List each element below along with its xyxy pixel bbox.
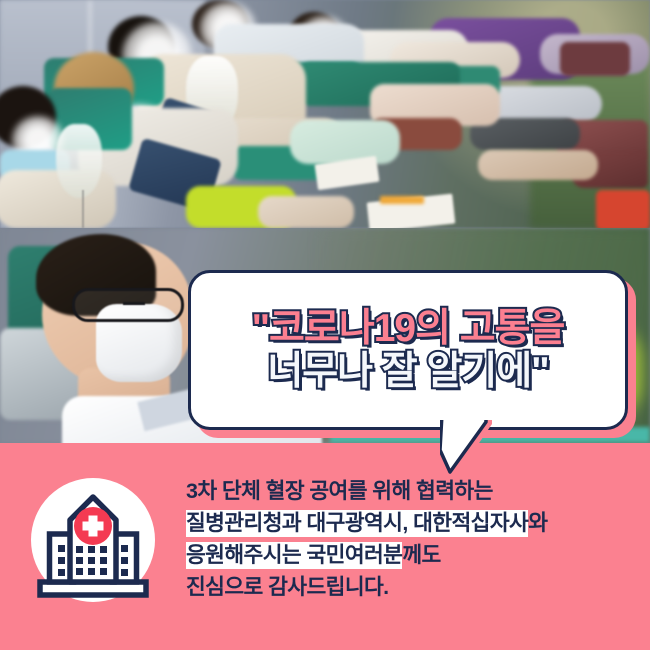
- message-line-3-tail: 께도: [402, 543, 440, 567]
- hospital-icon: [30, 478, 156, 604]
- quote-speech-bubble: "코로나19의 고통을 너무나 잘 알기에": [188, 270, 628, 430]
- blood-donation-hall-photo: [0, 0, 650, 228]
- quote-line-1: "코로나19의 고통을: [252, 308, 565, 349]
- bottom-message: 3차 단체 혈장 공여를 위해 협력하는 질병관리청과 대구광역시, 대한적십자…: [186, 478, 636, 602]
- message-line-4: 진심으로 감사드립니다.: [186, 574, 636, 602]
- message-line-4-text: 진심으로 감사드립니다.: [186, 575, 389, 599]
- message-line-2-highlight: 질병관리청과 대구광역시, 대한적십자사: [186, 510, 528, 537]
- message-line-2-tail: 와: [528, 511, 547, 535]
- quote-line-2: 너무나 잘 알기에": [267, 351, 548, 392]
- message-line-1: 3차 단체 혈장 공여를 위해 협력하는: [186, 478, 636, 506]
- message-line-2: 질병관리청과 대구광역시, 대한적십자사와: [186, 510, 636, 538]
- message-line-3-highlight: 응원해주시는 국민여러분: [186, 542, 402, 569]
- speech-bubble-tail: [440, 420, 500, 476]
- eyeglasses: [72, 288, 184, 322]
- message-line-1-text: 3차 단체 혈장 공여를 위해 협력하는: [186, 479, 493, 503]
- message-line-3: 응원해주시는 국민여러분께도: [186, 542, 636, 570]
- infographic-card: "코로나19의 고통을 너무나 잘 알기에": [0, 0, 650, 650]
